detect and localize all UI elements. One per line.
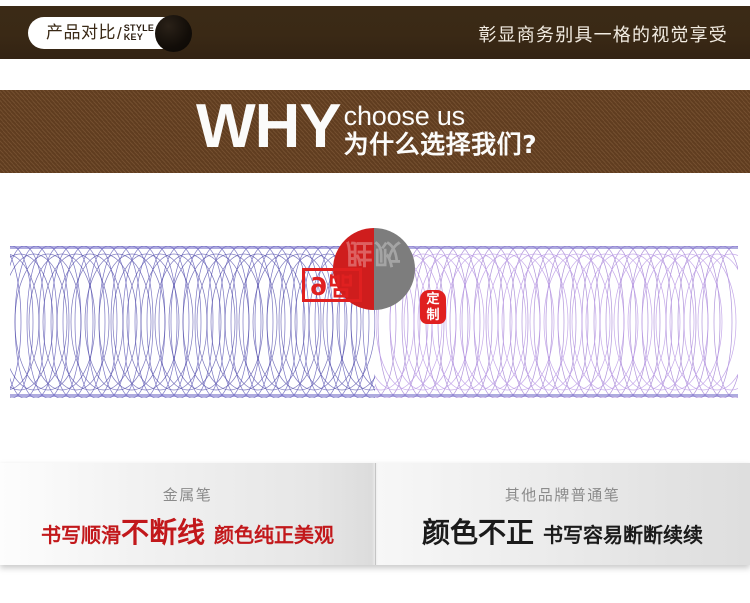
badge-key-line: KEY <box>124 33 155 42</box>
right-drawback-large: 颜色不正 <box>422 511 534 551</box>
left-benefit-large: 不断线 <box>121 511 205 551</box>
badge-chinese-label: 产品对比 <box>46 25 116 42</box>
seal-line-two: 制 <box>420 308 446 324</box>
watermark-seal: 9品 <box>302 268 362 302</box>
why-choose-us-banner: WHY choose us 为什么选择我们? <box>0 90 750 173</box>
left-product-caption: 金属笔 <box>0 484 375 505</box>
comparison-panel: 金属笔 书写顺滑 不断线 颜色纯正美观 其他品牌普通笔 颜色不正 书写容易断断续… <box>0 463 750 565</box>
why-headline-word: WHY <box>196 97 340 158</box>
seal-line-one: 定 <box>420 292 446 308</box>
why-english-subtitle: choose us <box>344 102 538 130</box>
badge-style-key: STYLE KEY <box>124 24 155 42</box>
header-tagline: 彰显商务别具一格的视觉享受 <box>478 21 728 47</box>
top-header-bar: 产品对比 / STYLE KEY 彰显商务别具一格的视觉享受 <box>0 6 750 59</box>
right-drawback-tail: 书写容易断断续续 <box>543 519 703 548</box>
right-drawback-phrase: 颜色不正 书写容易断断续续 <box>375 511 750 551</box>
badge-slash: / <box>117 25 122 42</box>
left-benefit-phrase: 书写顺滑 不断线 颜色纯正美观 <box>0 511 375 551</box>
comparison-left-column: 金属笔 书写顺滑 不断线 颜色纯正美观 <box>0 463 375 565</box>
left-benefit-tail: 颜色纯正美观 <box>214 519 334 548</box>
left-benefit-small: 书写顺滑 <box>41 519 121 548</box>
right-product-caption: 其他品牌普通笔 <box>375 484 750 505</box>
why-chinese-subtitle: 为什么选择我们? <box>344 131 538 160</box>
custom-made-seal-icon: 定 制 <box>420 290 446 324</box>
black-circle-icon <box>155 15 192 52</box>
why-subtitle-group: choose us 为什么选择我们? <box>344 97 538 160</box>
why-banner-content: WHY choose us 为什么选择我们? <box>196 97 537 160</box>
comparison-right-column: 其他品牌普通笔 颜色不正 书写容易断断续续 <box>375 463 750 565</box>
